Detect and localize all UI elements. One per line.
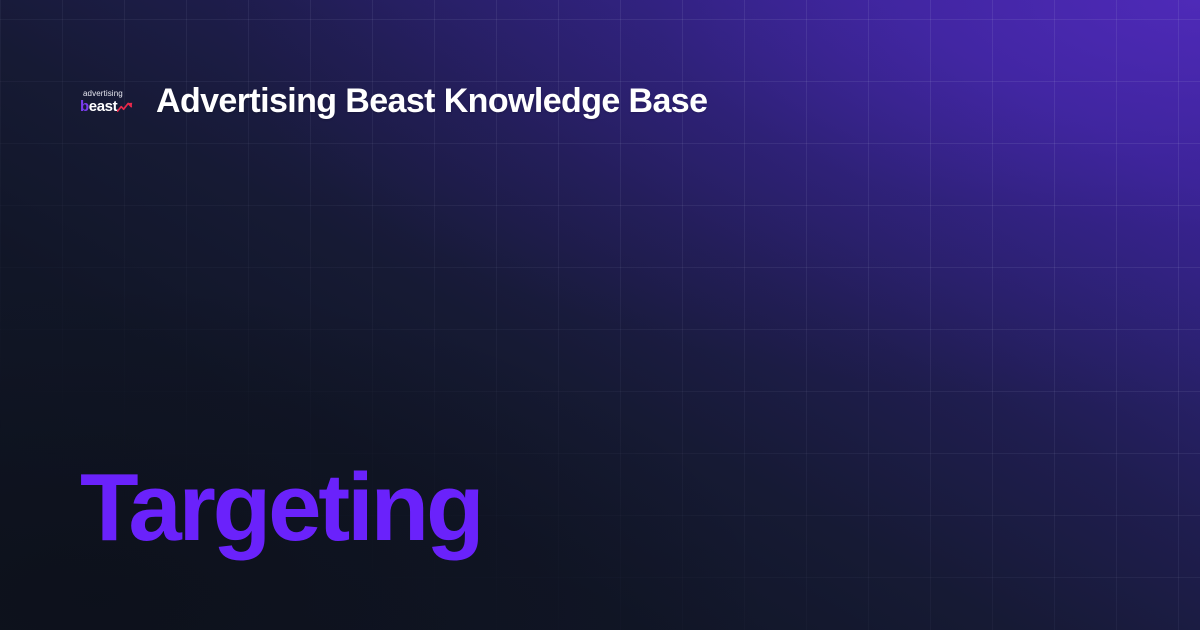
page-title: Targeting	[80, 460, 481, 556]
logo-top-word: advertising	[83, 90, 123, 98]
logo-bottom-word: beast	[80, 99, 117, 114]
header: advertising beast Advertising Beast Know…	[80, 82, 707, 121]
site-title: Advertising Beast Knowledge Base	[156, 82, 707, 121]
og-banner: advertising beast Advertising Beast Know…	[0, 0, 1200, 630]
trend-arrow-icon	[117, 102, 135, 113]
logo-letters-east: east	[89, 98, 117, 115]
logo-letter-b: b	[80, 98, 89, 115]
advertising-beast-logo[interactable]: advertising beast	[80, 85, 138, 119]
